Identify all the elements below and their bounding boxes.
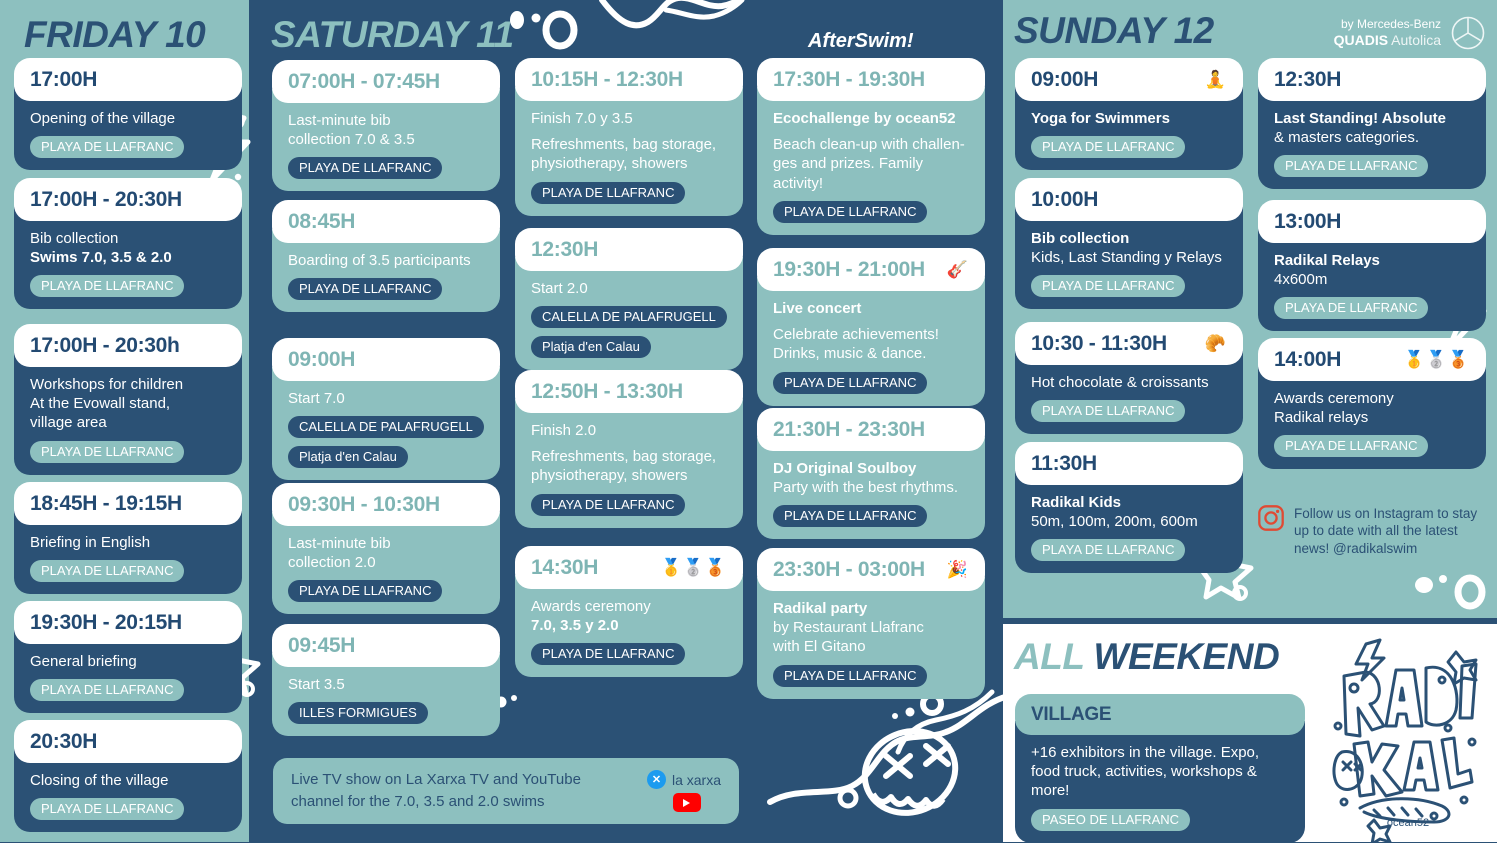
event-description-line: Closing of the village: [30, 771, 226, 790]
event-card: 07:00H - 07:45HLast-minute bibcollection…: [272, 60, 500, 191]
event-description-line: Radikal Relays: [1274, 251, 1470, 270]
event-card: 17:00H - 20:30hWorkshops for childrenAt …: [14, 324, 242, 475]
event-tags: PLAYA DE LLAFRANC: [1031, 392, 1227, 422]
event-description-line: 4x600m: [1274, 270, 1470, 289]
event-tags: PLAYA DE LLAFRANC: [288, 572, 484, 602]
event-description-line: collection 2.0: [288, 553, 484, 572]
event-time-label: 18:45H - 19:15H: [30, 492, 182, 516]
event-card: 09:45HStart 3.5ILLES FORMIGUES: [272, 624, 500, 736]
event-time-label: 10:15H - 12:30H: [531, 68, 683, 92]
event-card: 20:30HClosing of the villagePLAYA DE LLA…: [14, 720, 242, 832]
event-description-line: Opening of the village: [30, 109, 226, 128]
event-description-line: Ecochallenge by ocean52: [773, 109, 969, 128]
event-time-label: 10:30 - 11:30H: [1031, 332, 1167, 356]
event-description-line: Beach clean-up with challen-: [773, 135, 969, 154]
event-tags: PLAYA DE LLAFRANC: [30, 552, 226, 582]
venue-tag: PLAYA DE LLAFRANC: [288, 580, 442, 602]
event-card: 14:00H🥇🥈🥉Awards ceremonyRadikal relaysPL…: [1258, 338, 1486, 469]
sunday-title: SUNDAY 12: [1014, 12, 1214, 49]
event-tags: PLAYA DE LLAFRANC: [531, 635, 727, 665]
event-body: Awards ceremony7.0, 3.5 y 2.0PLAYA DE LL…: [515, 575, 743, 677]
venue-tag: PLAYA DE LLAFRANC: [773, 201, 927, 223]
village-description-line: +16 exhibitors in the village. Expo,: [1031, 743, 1289, 762]
event-card: 19:30H - 20:15HGeneral briefingPLAYA DE …: [14, 601, 242, 713]
event-time-label: 17:30H - 19:30H: [773, 68, 925, 92]
event-emoji-icon: 🎸: [947, 260, 969, 280]
tv-banner-logos: ✕ la xarxa: [647, 770, 721, 812]
afterswim-title: AfterSwim!: [808, 30, 914, 53]
venue-tag: PLAYA DE LLAFRANC: [531, 643, 685, 665]
event-card: 12:30HStart 2.0CALELLA DE PALAFRUGELLPla…: [515, 228, 743, 370]
event-time-label: 09:00H: [288, 348, 355, 372]
event-time: 11:30H: [1015, 442, 1243, 485]
venue-tag: PLAYA DE LLAFRANC: [30, 136, 184, 158]
event-body: Finish 2.0Refreshments, bag storage,phys…: [515, 399, 743, 528]
venue-tag: PASEO DE LLAFRANC: [1031, 809, 1190, 831]
event-time-label: 17:00H: [30, 68, 97, 92]
event-body: Live concertCelebrate achievements!Drink…: [757, 277, 985, 406]
event-tags: PLAYA DE LLAFRANC: [30, 267, 226, 297]
venue-tag: PLAYA DE LLAFRANC: [1031, 400, 1185, 422]
venue-tag: PLAYA DE LLAFRANC: [30, 275, 184, 297]
event-time: 12:30H: [1258, 58, 1486, 101]
event-description-line: 7.0, 3.5 y 2.0: [531, 616, 727, 635]
sponsor-block: by Mercedes-Benz QUADIS Autolica: [1280, 16, 1485, 50]
event-time: 10:30 - 11:30H🥐: [1015, 322, 1243, 365]
event-body: Radikal Relays4x600mPLAYA DE LLAFRANC: [1258, 229, 1486, 331]
event-body: Bib collectionSwims 7.0, 3.5 & 2.0PLAYA …: [14, 207, 242, 309]
event-tags: PLAYA DE LLAFRANC: [1274, 427, 1470, 457]
event-description-line: collection 7.0 & 3.5: [288, 130, 484, 149]
event-time: 10:15H - 12:30H: [515, 58, 743, 101]
laxarxa-logo-icon: ✕: [647, 770, 666, 789]
venue-tag: CALELLA DE PALAFRUGELL: [288, 416, 484, 438]
event-emoji-icon: 🎉: [947, 560, 969, 580]
event-time: 21:30H - 23:30H: [757, 408, 985, 451]
event-description-line: by Restaurant Llafranc: [773, 618, 969, 637]
event-time: 13:00H: [1258, 200, 1486, 243]
event-time: 23:30H - 03:00H🎉: [757, 548, 985, 591]
friday-title: FRIDAY 10: [24, 16, 205, 53]
event-tags: PLAYA DE LLAFRANC: [288, 270, 484, 300]
event-card: 10:30 - 11:30H🥐Hot chocolate & croissant…: [1015, 322, 1243, 434]
event-card: 17:00HOpening of the villagePLAYA DE LLA…: [14, 58, 242, 170]
event-time-label: 19:30H - 21:00H: [773, 258, 925, 282]
event-description-line: Bib collection: [1031, 229, 1227, 248]
sponsor-text: by Mercedes-Benz QUADIS Autolica: [1334, 17, 1441, 50]
sponsor-brand-sub: Autolica: [1388, 32, 1441, 48]
event-description-line: Radikal party: [773, 599, 969, 618]
event-description-line: Awards ceremony: [1274, 389, 1470, 408]
event-card: 10:00HBib collectionKids, Last Standing …: [1015, 178, 1243, 309]
venue-tag: PLAYA DE LLAFRANC: [288, 278, 442, 300]
event-line-spacer: [773, 318, 969, 325]
event-time: 12:30H: [515, 228, 743, 271]
event-description-line: General briefing: [30, 652, 226, 671]
event-description-line: Boarding of 3.5 participants: [288, 251, 484, 270]
event-tags: ILLES FORMIGUES: [288, 694, 484, 724]
event-body: Last-minute bibcollection 2.0PLAYA DE LL…: [272, 512, 500, 614]
event-description-line: Start 2.0: [531, 279, 727, 298]
village-header: VILLAGE: [1015, 694, 1305, 735]
saturday-title: SATURDAY 11: [271, 16, 514, 53]
venue-tag: PLAYA DE LLAFRANC: [1031, 275, 1185, 297]
event-body: Bib collectionKids, Last Standing y Rela…: [1015, 207, 1243, 309]
event-time-label: 09:00H: [1031, 68, 1098, 92]
village-description-line: food truck, activities, workshops & more…: [1031, 762, 1289, 800]
event-tags: PLAYA DE LLAFRANC: [1031, 128, 1227, 158]
sponsor-line2: QUADIS Autolica: [1334, 32, 1441, 50]
event-description-line: Radikal Kids: [1031, 493, 1227, 512]
event-emoji-icon: 🥐: [1205, 334, 1227, 354]
mercedes-star-icon: [1451, 16, 1485, 50]
event-time-label: 07:00H - 07:45H: [288, 70, 440, 94]
event-body: Workshops for childrenAt the Evowall sta…: [14, 353, 242, 475]
venue-tag: PLAYA DE LLAFRANC: [773, 372, 927, 394]
venue-tag: PLAYA DE LLAFRANC: [30, 679, 184, 701]
event-time-label: 13:00H: [1274, 210, 1341, 234]
event-description-line: Awards ceremony: [531, 597, 727, 616]
venue-tag: PLAYA DE LLAFRANC: [288, 157, 442, 179]
event-time: 18:45H - 19:15H: [14, 482, 242, 525]
event-tags: PLAYA DE LLAFRANC: [1274, 147, 1470, 177]
event-description-line: Drinks, music & dance.: [773, 344, 969, 363]
event-time: 19:30H - 20:15H: [14, 601, 242, 644]
event-time: 19:30H - 21:00H🎸: [757, 248, 985, 291]
event-card: 18:45H - 19:15HBriefing in EnglishPLAYA …: [14, 482, 242, 594]
event-body: Finish 7.0 y 3.5Refreshments, bag storag…: [515, 87, 743, 216]
event-body: Radikal partyby Restaurant Llafrancwith …: [757, 577, 985, 699]
village-tags: PASEO DE LLAFRANC: [1031, 801, 1289, 831]
village-body: +16 exhibitors in the village. Expo,food…: [1015, 721, 1305, 843]
event-time-label: 09:30H - 10:30H: [288, 493, 440, 517]
event-time-label: 14:00H: [1274, 348, 1341, 372]
event-line-spacer: [531, 128, 727, 135]
event-card: 12:50H - 13:30HFinish 2.0Refreshments, b…: [515, 370, 743, 528]
event-tags: PLAYA DE LLAFRANC: [30, 128, 226, 158]
event-card: 23:30H - 03:00H🎉Radikal partyby Restaura…: [757, 548, 985, 699]
event-time-label: 23:30H - 03:00H: [773, 558, 925, 582]
event-description-line: Briefing in English: [30, 533, 226, 552]
event-time-label: 11:30H: [1031, 452, 1097, 476]
all-weekend-title-part2: WEEKEND: [1094, 636, 1280, 677]
venue-tag: ILLES FORMIGUES: [288, 702, 428, 724]
sponsor-brand: QUADIS: [1334, 32, 1388, 48]
venue-tag: PLAYA DE LLAFRANC: [30, 441, 184, 463]
event-tags: PLAYA DE LLAFRANC: [531, 174, 727, 204]
event-time-label: 09:45H: [288, 634, 355, 658]
venue-tag: PLAYA DE LLAFRANC: [773, 665, 927, 687]
event-time-label: 19:30H - 20:15H: [30, 611, 182, 635]
venue-tag: Platja d'en Calau: [531, 336, 651, 358]
event-tags: PLAYA DE LLAFRANC: [773, 193, 969, 223]
event-time: 17:00H - 20:30H: [14, 178, 242, 221]
event-description-line: Bib collection: [30, 229, 226, 248]
event-time-label: 17:00H - 20:30H: [30, 188, 182, 212]
event-emoji-icon: 🥇🥈🥉: [660, 558, 727, 578]
event-body: Ecochallenge by ocean52Beach clean-up wi…: [757, 87, 985, 235]
event-tags: PLAYA DE LLAFRANC: [531, 486, 727, 516]
event-tags: PLAYA DE LLAFRANC: [773, 657, 969, 687]
event-description-line: & masters categories.: [1274, 128, 1470, 147]
event-body: DJ Original SoulboyParty with the best r…: [757, 437, 985, 539]
event-description-line: Last Standing! Absolute: [1274, 109, 1470, 128]
event-time: 12:50H - 13:30H: [515, 370, 743, 413]
event-time-label: 12:30H: [1274, 68, 1341, 92]
event-description-line: Refreshments, bag storage,: [531, 135, 727, 154]
event-card: 17:30H - 19:30HEcochallenge by ocean52Be…: [757, 58, 985, 235]
event-description-line: Radikal relays: [1274, 408, 1470, 427]
event-description-line: ges and prizes. Family activity!: [773, 154, 969, 192]
event-body: Awards ceremonyRadikal relaysPLAYA DE LL…: [1258, 367, 1486, 469]
sponsor-line1: by Mercedes-Benz: [1334, 17, 1441, 32]
event-tags: PLAYA DE LLAFRANC: [30, 671, 226, 701]
venue-tag: PLAYA DE LLAFRANC: [1274, 297, 1428, 319]
event-time: 14:00H🥇🥈🥉: [1258, 338, 1486, 381]
event-body: Last-minute bibcollection 7.0 & 3.5PLAYA…: [272, 89, 500, 191]
venue-tag: PLAYA DE LLAFRANC: [531, 182, 685, 204]
event-tags: PLAYA DE LLAFRANC: [773, 364, 969, 394]
event-description-line: Swims 7.0, 3.5 & 2.0: [30, 248, 226, 267]
event-time: 09:00H🧘: [1015, 58, 1243, 101]
event-description-line: Start 7.0: [288, 389, 484, 408]
laxarxa-label: la xarxa: [672, 772, 721, 788]
venue-tag: PLAYA DE LLAFRANC: [1274, 435, 1428, 457]
event-time: 14:30H🥇🥈🥉: [515, 546, 743, 589]
instagram-icon: [1258, 505, 1284, 531]
event-time: 17:30H - 19:30H: [757, 58, 985, 101]
event-card: 10:15H - 12:30HFinish 7.0 y 3.5Refreshme…: [515, 58, 743, 216]
event-body: Start 2.0CALELLA DE PALAFRUGELLPlatja d'…: [515, 257, 743, 370]
event-description-line: Finish 7.0 y 3.5: [531, 109, 727, 128]
poster-canvas: FRIDAY 10 SATURDAY 11 SUNDAY 12 AfterSwi…: [0, 0, 1497, 842]
event-description-line: Yoga for Swimmers: [1031, 109, 1227, 128]
event-description-line: Hot chocolate & croissants: [1031, 373, 1227, 392]
event-card: 11:30HRadikal Kids50m, 100m, 200m, 600mP…: [1015, 442, 1243, 573]
all-weekend-title-part1: ALL: [1014, 636, 1094, 677]
event-time: 07:00H - 07:45H: [272, 60, 500, 103]
event-description-line: Finish 2.0: [531, 421, 727, 440]
event-tags: PLAYA DE LLAFRANC: [1031, 267, 1227, 297]
event-time-label: 12:50H - 13:30H: [531, 380, 683, 404]
event-card: 19:30H - 21:00H🎸Live concertCelebrate ac…: [757, 248, 985, 406]
event-time: 17:00H: [14, 58, 242, 101]
event-description-line: Live concert: [773, 299, 969, 318]
venue-tag: PLAYA DE LLAFRANC: [531, 494, 685, 516]
event-tags: CALELLA DE PALAFRUGELLPlatja d'en Calau: [531, 298, 727, 358]
event-card: 09:30H - 10:30HLast-minute bibcollection…: [272, 483, 500, 614]
event-description-line: Last-minute bib: [288, 111, 484, 130]
venue-tag: PLAYA DE LLAFRANC: [1274, 155, 1428, 177]
event-card: 14:30H🥇🥈🥉Awards ceremony7.0, 3.5 y 2.0PL…: [515, 546, 743, 677]
event-tags: PLAYA DE LLAFRANC: [30, 433, 226, 463]
event-tags: PLAYA DE LLAFRANC: [1274, 289, 1470, 319]
tv-banner-text: Live TV show on La Xarxa TV and YouTube …: [291, 769, 633, 813]
event-body: Radikal Kids50m, 100m, 200m, 600mPLAYA D…: [1015, 471, 1243, 573]
event-tags: PLAYA DE LLAFRANC: [773, 497, 969, 527]
event-description-line: Celebrate achievements!: [773, 325, 969, 344]
event-tags: CALELLA DE PALAFRUGELLPlatja d'en Calau: [288, 408, 484, 468]
event-description-line: Refreshments, bag storage,: [531, 447, 727, 466]
event-description-line: physiotherapy, showers: [531, 466, 727, 485]
event-tags: PLAYA DE LLAFRANC: [1031, 531, 1227, 561]
event-description-line: Kids, Last Standing y Relays: [1031, 248, 1227, 267]
event-time: 20:30H: [14, 720, 242, 763]
event-time: 09:30H - 10:30H: [272, 483, 500, 526]
event-description-line: Workshops for children: [30, 375, 226, 394]
event-time: 08:45H: [272, 200, 500, 243]
event-card: 08:45HBoarding of 3.5 participantsPLAYA …: [272, 200, 500, 312]
event-description-line: DJ Original Soulboy: [773, 459, 969, 478]
event-description-line: physiotherapy, showers: [531, 154, 727, 173]
event-body: Start 7.0CALELLA DE PALAFRUGELLPlatja d'…: [272, 367, 500, 480]
youtube-icon[interactable]: [673, 793, 701, 812]
instagram-text: Follow us on Instagram to stay up to dat…: [1294, 505, 1488, 557]
event-time: 17:00H - 20:30h: [14, 324, 242, 367]
event-description-line: 50m, 100m, 200m, 600m: [1031, 512, 1227, 531]
event-emoji-icon: 🧘: [1205, 70, 1227, 90]
event-description-line: At the Evowall stand,: [30, 394, 226, 413]
event-description-line: Last-minute bib: [288, 534, 484, 553]
all-weekend-title: ALL WEEKEND: [1014, 636, 1279, 678]
event-time-label: 17:00H - 20:30h: [30, 334, 180, 358]
event-line-spacer: [773, 128, 969, 135]
venue-tag: PLAYA DE LLAFRANC: [773, 505, 927, 527]
event-tags: PLAYA DE LLAFRANC: [30, 790, 226, 820]
event-tags: PLAYA DE LLAFRANC: [288, 149, 484, 179]
village-card: VILLAGE+16 exhibitors in the village. Ex…: [1015, 694, 1305, 843]
laxarxa-logo[interactable]: ✕ la xarxa: [647, 770, 721, 789]
village-header-label: VILLAGE: [1031, 704, 1111, 726]
event-card: 12:30HLast Standing! Absolute& masters c…: [1258, 58, 1486, 189]
event-card: 09:00H🧘Yoga for SwimmersPLAYA DE LLAFRAN…: [1015, 58, 1243, 170]
event-description-line: village area: [30, 413, 226, 432]
event-card: 17:00H - 20:30HBib collectionSwims 7.0, …: [14, 178, 242, 309]
event-card: 09:00HStart 7.0CALELLA DE PALAFRUGELLPla…: [272, 338, 500, 480]
venue-tag: PLAYA DE LLAFRANC: [1031, 539, 1185, 561]
event-time: 10:00H: [1015, 178, 1243, 221]
event-body: Last Standing! Absolute& masters categor…: [1258, 87, 1486, 189]
venue-tag: PLAYA DE LLAFRANC: [30, 560, 184, 582]
event-time: 09:00H: [272, 338, 500, 381]
event-description-line: Start 3.5: [288, 675, 484, 694]
event-description-line: with El Gitano: [773, 637, 969, 656]
tv-banner: Live TV show on La Xarxa TV and YouTube …: [273, 758, 739, 824]
event-time-label: 12:30H: [531, 238, 598, 262]
event-card: 21:30H - 23:30HDJ Original SoulboyParty …: [757, 408, 985, 539]
event-time-label: 14:30H: [531, 556, 598, 580]
event-time-label: 21:30H - 23:30H: [773, 418, 925, 442]
venue-tag: PLAYA DE LLAFRANC: [30, 798, 184, 820]
event-time: 09:45H: [272, 624, 500, 667]
event-time-label: 10:00H: [1031, 188, 1098, 212]
event-card: 13:00HRadikal Relays4x600mPLAYA DE LLAFR…: [1258, 200, 1486, 331]
event-time-label: 20:30H: [30, 730, 97, 754]
event-description-line: Party with the best rhythms.: [773, 478, 969, 497]
venue-tag: PLAYA DE LLAFRANC: [1031, 136, 1185, 158]
instagram-block[interactable]: Follow us on Instagram to stay up to dat…: [1258, 505, 1488, 557]
venue-tag: CALELLA DE PALAFRUGELL: [531, 306, 727, 328]
event-emoji-icon: 🥇🥈🥉: [1403, 350, 1470, 370]
venue-tag: Platja d'en Calau: [288, 446, 408, 468]
event-line-spacer: [531, 440, 727, 447]
event-time-label: 08:45H: [288, 210, 355, 234]
